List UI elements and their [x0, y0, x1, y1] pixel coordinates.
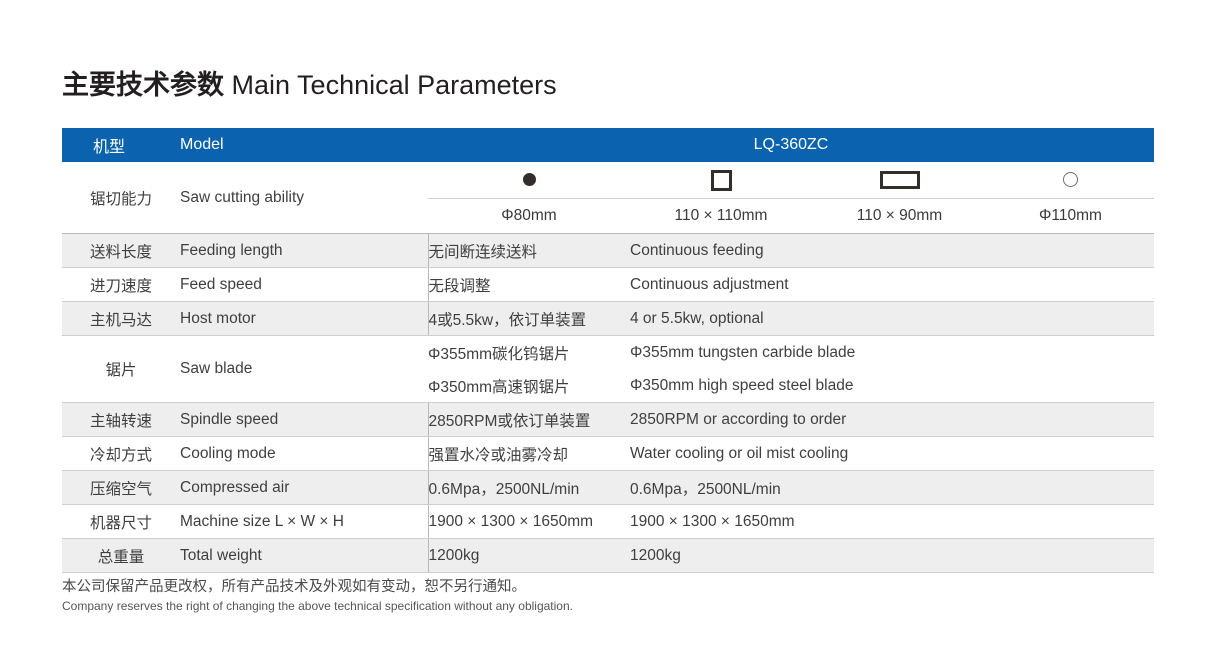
- technical-parameters-table: 机型 Model LQ-360ZC 锯切能力 Saw cutting abili…: [62, 128, 1154, 573]
- blade-value-cn-1: Φ355mm碳化钨锯片: [428, 336, 630, 370]
- row-value-en: Continuous adjustment: [630, 268, 1154, 302]
- row-label-en: Feed speed: [180, 268, 428, 302]
- header-label-en: Model: [180, 128, 428, 162]
- row-value-cn: 4或5.5kw，依订单装置: [428, 302, 630, 336]
- blade-value-en-1: Φ355mm tungsten carbide blade: [630, 336, 1154, 370]
- row-label-cn: 总重量: [62, 539, 180, 573]
- row-label-cn: 主轴转速: [62, 403, 180, 437]
- row-value-en: 4 or 5.5kw, optional: [630, 302, 1154, 336]
- cut-shape-cell-2: [630, 162, 812, 199]
- blade-value-cn-2: Φ350mm高速钢锯片: [428, 369, 630, 403]
- row-label-en: Spindle speed: [180, 403, 428, 437]
- cutting-ability-shapes-row: 锯切能力 Saw cutting ability: [62, 162, 1154, 199]
- table-row: 主机马达 Host motor 4或5.5kw，依订单装置 4 or 5.5kw…: [62, 302, 1154, 336]
- page-title: 主要技术参数 Main Technical Parameters: [62, 68, 557, 102]
- row-value-en: 1200kg: [630, 539, 1154, 573]
- cut-shape-cell-1: [428, 162, 630, 199]
- row-label-en: Total weight: [180, 539, 428, 573]
- row-value-cn: 强置水冷或油雾冷却: [428, 437, 630, 471]
- rectangle-outline-icon: [880, 171, 920, 189]
- row-value-en: Water cooling or oil mist cooling: [630, 437, 1154, 471]
- row-label-cn: 进刀速度: [62, 268, 180, 302]
- blade-label-cn: 锯片: [62, 336, 180, 403]
- row-value-cn: 1900 × 1300 × 1650mm: [428, 505, 630, 539]
- saw-blade-row-line1: 锯片 Saw blade Φ355mm碳化钨锯片 Φ355mm tungsten…: [62, 336, 1154, 370]
- cutting-ability-label-cn: 锯切能力: [62, 162, 180, 234]
- row-value-cn: 2850RPM或依订单装置: [428, 403, 630, 437]
- cut-size-3: 110 × 90mm: [812, 199, 987, 234]
- square-outline-icon: [711, 170, 732, 191]
- table-header-row: 机型 Model LQ-360ZC: [62, 128, 1154, 162]
- row-label-cn: 送料长度: [62, 234, 180, 268]
- table-row: 送料长度 Feeding length 无间断连续送料 Continuous f…: [62, 234, 1154, 268]
- cutting-ability-label-en: Saw cutting ability: [180, 162, 428, 234]
- disclaimer: 本公司保留产品更改权，所有产品技术及外观如有变动，恕不另行通知。 Company…: [62, 577, 1062, 615]
- disclaimer-en: Company reserves the right of changing t…: [62, 597, 1062, 615]
- row-label-cn: 主机马达: [62, 302, 180, 336]
- table-row: 主轴转速 Spindle speed 2850RPM或依订单装置 2850RPM…: [62, 403, 1154, 437]
- row-label-cn: 机器尺寸: [62, 505, 180, 539]
- row-value-en: Continuous feeding: [630, 234, 1154, 268]
- table-row: 进刀速度 Feed speed 无段调整 Continuous adjustme…: [62, 268, 1154, 302]
- cut-shape-cell-4: [987, 162, 1154, 199]
- row-label-en: Feeding length: [180, 234, 428, 268]
- row-value-en: 2850RPM or according to order: [630, 403, 1154, 437]
- row-value-cn: 1200kg: [428, 539, 630, 573]
- row-label-en: Machine size L × W × H: [180, 505, 428, 539]
- row-value-cn: 无段调整: [428, 268, 630, 302]
- blade-label-en: Saw blade: [180, 336, 428, 403]
- spec-sheet-page: 主要技术参数 Main Technical Parameters 机型 Mode…: [0, 0, 1217, 666]
- row-value-en: 0.6Mpa，2500NL/min: [630, 471, 1154, 505]
- row-value-cn: 无间断连续送料: [428, 234, 630, 268]
- disclaimer-cn: 本公司保留产品更改权，所有产品技术及外观如有变动，恕不另行通知。: [62, 577, 1062, 597]
- filled-circle-icon: [523, 173, 536, 186]
- row-label-en: Compressed air: [180, 471, 428, 505]
- row-label-cn: 压缩空气: [62, 471, 180, 505]
- header-model-value: LQ-360ZC: [428, 128, 1154, 162]
- cut-size-2: 110 × 110mm: [630, 199, 812, 234]
- header-label-cn: 机型: [62, 128, 180, 162]
- table-row: 压缩空气 Compressed air 0.6Mpa，2500NL/min 0.…: [62, 471, 1154, 505]
- row-label-en: Host motor: [180, 302, 428, 336]
- cut-shape-cell-3: [812, 162, 987, 199]
- hollow-circle-icon: [1063, 172, 1078, 187]
- cut-size-4: Φ110mm: [987, 199, 1154, 234]
- row-value-en: 1900 × 1300 × 1650mm: [630, 505, 1154, 539]
- row-label-cn: 冷却方式: [62, 437, 180, 471]
- cut-size-1: Φ80mm: [428, 199, 630, 234]
- table-row: 总重量 Total weight 1200kg 1200kg: [62, 539, 1154, 573]
- blade-value-en-2: Φ350mm high speed steel blade: [630, 369, 1154, 403]
- table-row: 机器尺寸 Machine size L × W × H 1900 × 1300 …: [62, 505, 1154, 539]
- row-value-cn: 0.6Mpa，2500NL/min: [428, 471, 630, 505]
- row-label-en: Cooling mode: [180, 437, 428, 471]
- page-title-cn: 主要技术参数: [62, 70, 224, 100]
- page-title-en: Main Technical Parameters: [224, 70, 557, 100]
- table-row: 冷却方式 Cooling mode 强置水冷或油雾冷却 Water coolin…: [62, 437, 1154, 471]
